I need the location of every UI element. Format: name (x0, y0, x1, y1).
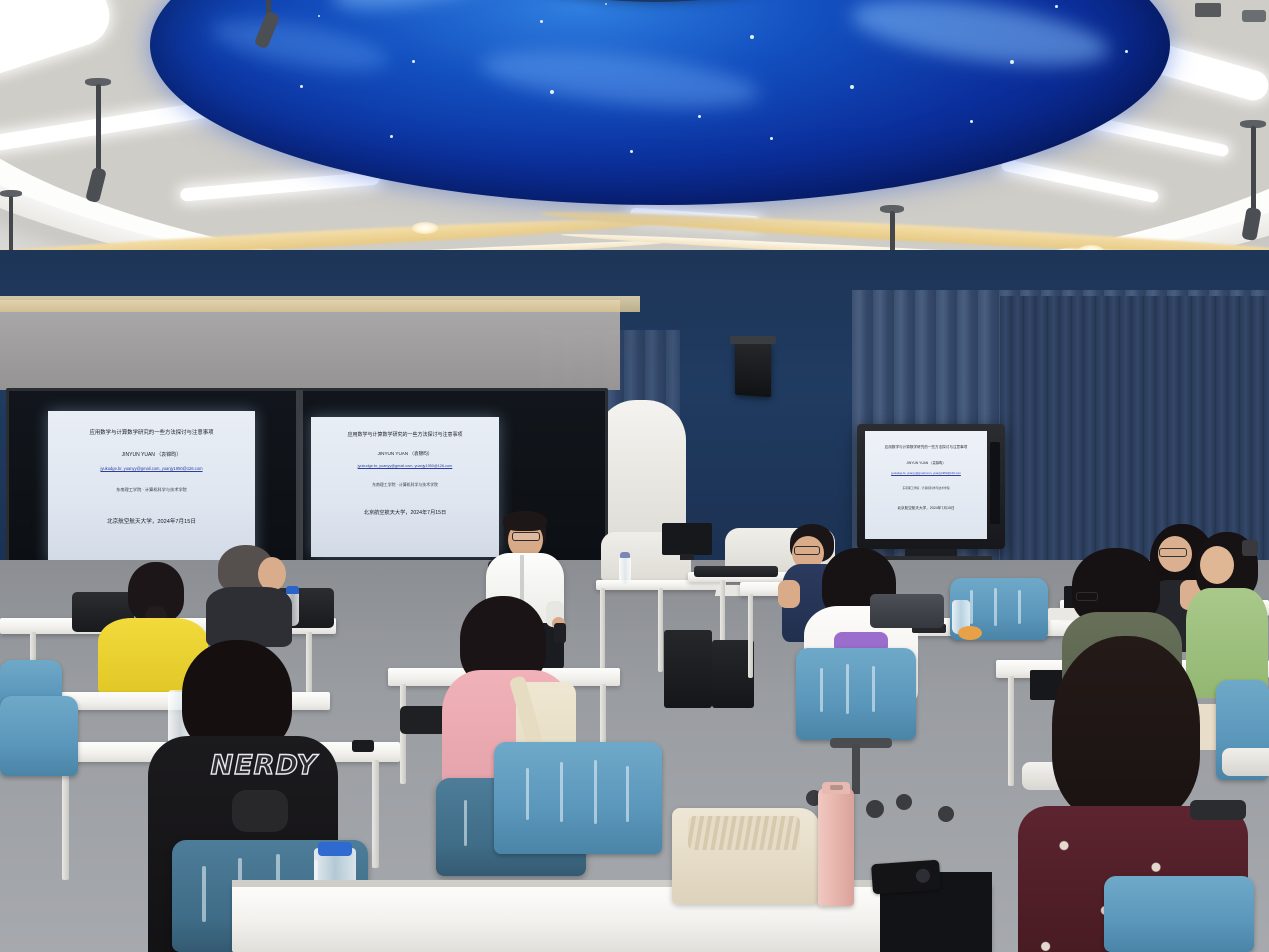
tv-slide-emails: jyukudge.br, yuanyy@gmail.com, yuanjy195… (865, 471, 987, 475)
flat-panel-screen: 应用数学与计算数学研究的一些方法探讨与注意事项 JINYUN YUAN （袁锦昀… (865, 431, 987, 539)
tv-slide-author: JINYUN YUAN （袁锦昀） (865, 460, 987, 465)
computer-tower (664, 630, 712, 708)
laser-pointer[interactable] (554, 623, 566, 643)
lecture-hall-photograph: BEIHANG UNIVERSITY 1952 北京航空航天大学 (0, 0, 1269, 952)
black-smartphone[interactable] (871, 860, 941, 895)
foreground-desk (232, 884, 992, 952)
wall-mounted-speaker (735, 341, 771, 398)
orange-fruit (958, 626, 982, 640)
shirt-print-nerdy: NERDY (200, 750, 328, 781)
recessed-downlight (412, 222, 438, 234)
bottle-cap (318, 842, 352, 856)
tv-slide-title: 应用数学与计算数学研究的一些方法探讨与注意事项 (865, 445, 987, 450)
beihang-university-emblem: BEIHANG UNIVERSITY 1952 北京航空航天大学 (480, 0, 831, 2)
slide-title: 应用数学与计算数学研究的一些方法探讨与注意事项 (48, 429, 255, 437)
slide-emails: jyukudge.br, yuanyy@gmail.com, yuanjy195… (48, 466, 255, 471)
slide-emails: jyukudge.br, yuanyy@gmail.com, yuanjy195… (311, 464, 499, 468)
monitor-stand (680, 554, 694, 560)
desk-leg (748, 594, 753, 678)
audio-speaker-bar (694, 566, 778, 577)
student-chair[interactable] (1104, 876, 1254, 952)
bag-fold (688, 816, 800, 850)
projected-slide-right: 应用数学与计算数学研究的一些方法探讨与注意事项 JINYUN YUAN （袁锦昀… (311, 417, 499, 557)
arm (778, 580, 800, 608)
hair (1052, 636, 1200, 822)
desktop-monitor[interactable] (662, 523, 712, 555)
sneaker (1190, 800, 1246, 820)
hair-clip (1242, 540, 1258, 556)
glasses (1159, 548, 1187, 557)
sneaker (1222, 748, 1269, 776)
projected-slide-left: 应用数学与计算数学研究的一些方法探讨与注意事项 JINYUN YUAN （袁锦昀… (48, 411, 255, 563)
student-chair[interactable] (796, 648, 916, 740)
head (258, 557, 286, 591)
presenter-hair-top (503, 511, 547, 531)
slide-footer: 北京航空航天大学，2024年7月15日 (311, 509, 499, 516)
chair-column (852, 744, 860, 794)
ceiling-vent (1242, 10, 1266, 22)
camera-lens (915, 868, 930, 883)
thermos-latch (830, 785, 843, 790)
tv-slide-department: 东南理工学院 · 计算机科学与技术学院 (865, 486, 987, 490)
bottle-cap (620, 552, 630, 558)
beige-tote-bag (672, 808, 820, 904)
blackboard-divider (296, 390, 303, 562)
tv-slide-footer: 北京航空航天大学，2024年7月15日 (865, 506, 987, 511)
slide-department: 东南理工学院 · 计算机科学与技术学院 (311, 482, 499, 488)
glasses (1076, 592, 1098, 601)
presenter-glasses (512, 532, 540, 541)
pink-thermos-flask (818, 788, 854, 906)
desk-leg (400, 684, 406, 784)
shirt (206, 587, 292, 647)
speaker-bracket (730, 336, 776, 344)
glasses (794, 546, 820, 555)
chair-caster (896, 794, 912, 810)
desk-leg (600, 588, 605, 672)
desk-leg (1008, 676, 1014, 786)
student-chair[interactable] (494, 742, 662, 854)
wall-cove-light (0, 296, 640, 312)
slide-footer: 北京航空航天大学，2024年7月15日 (48, 517, 255, 525)
chair-caster (938, 806, 954, 822)
slide-author: JINYUN YUAN （袁锦昀） (311, 451, 499, 457)
flat-panel-side-panel[interactable] (990, 442, 1000, 524)
interactive-flat-panel-display[interactable]: 应用数学与计算数学研究的一些方法探讨与注意事项 JINYUN YUAN （袁锦昀… (857, 424, 1005, 549)
black-smartphone[interactable] (352, 740, 374, 752)
chair-base (830, 738, 892, 748)
wall-panel (0, 300, 620, 390)
desk-leg (372, 760, 379, 868)
backpack (870, 594, 944, 628)
desk-leg (658, 588, 663, 672)
slide-title: 应用数学与计算数学研究的一些方法探讨与注意事项 (311, 432, 499, 439)
head (1200, 546, 1234, 584)
slide-department: 东南理工学院 · 计算机科学与技术学院 (48, 487, 255, 493)
bottle-cap (286, 586, 299, 594)
student-chair[interactable] (0, 696, 78, 776)
slide-author: JINYUN YUAN （袁锦昀） (48, 451, 255, 458)
ceiling-sensor (1195, 3, 1221, 17)
clear-water-bottle (619, 556, 631, 584)
chair-caster (866, 800, 884, 818)
desk-leg (62, 760, 69, 880)
shirt-graphic (232, 790, 288, 832)
